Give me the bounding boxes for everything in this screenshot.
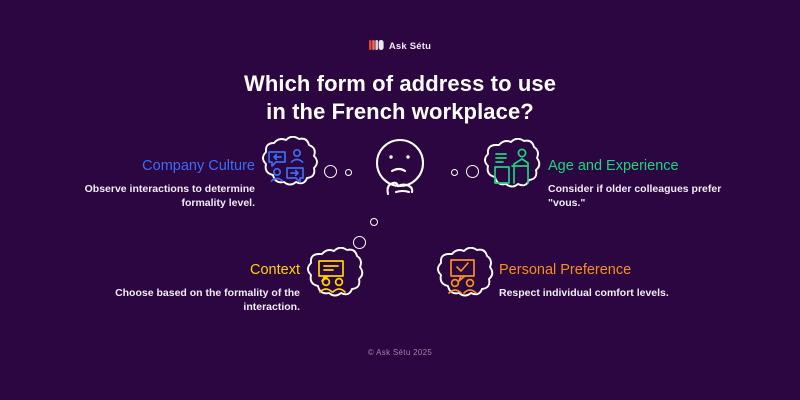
page-title: Which form of address to use in the Fren… xyxy=(0,70,800,126)
bubble-personal-preference xyxy=(434,247,494,310)
node-description: Choose based on the formality of the int… xyxy=(88,286,300,315)
footer-copyright: © Ask Sétu 2025 xyxy=(0,348,800,357)
brand: Ask Sétu xyxy=(0,37,800,55)
trail-dot xyxy=(324,165,337,178)
brand-name: Ask Sétu xyxy=(389,41,431,52)
logo-bars-icon xyxy=(369,37,384,55)
node-context: Context Choose based on the formality of… xyxy=(88,263,300,315)
trail-dot xyxy=(370,218,378,226)
node-company-culture: Company Culture Observe interactions to … xyxy=(58,159,255,211)
thinking-face-icon xyxy=(358,136,442,201)
title-line-2: in the French workplace? xyxy=(0,98,800,126)
node-label: Context xyxy=(88,263,300,279)
bubble-context xyxy=(304,247,364,310)
trail-dot xyxy=(345,169,352,176)
node-label: Personal Preference xyxy=(499,263,714,279)
node-age-and-experience: Age and Experience Consider if older col… xyxy=(548,159,748,211)
title-line-1: Which form of address to use xyxy=(0,70,800,98)
node-description: Observe interactions to determine formal… xyxy=(58,182,255,211)
node-label: Age and Experience xyxy=(548,159,748,175)
trail-dot xyxy=(451,169,458,176)
node-description: Consider if older colleagues prefer "vou… xyxy=(548,182,748,211)
bubble-company-culture xyxy=(256,136,318,199)
node-label: Company Culture xyxy=(58,159,255,175)
node-description: Respect individual comfort levels. xyxy=(499,286,714,300)
bubble-age-and-experience xyxy=(481,138,541,201)
slide-canvas: Ask Sétu Which form of address to use in… xyxy=(0,0,800,400)
trail-dot xyxy=(466,165,479,178)
node-personal-preference: Personal Preference Respect individual c… xyxy=(499,263,714,300)
